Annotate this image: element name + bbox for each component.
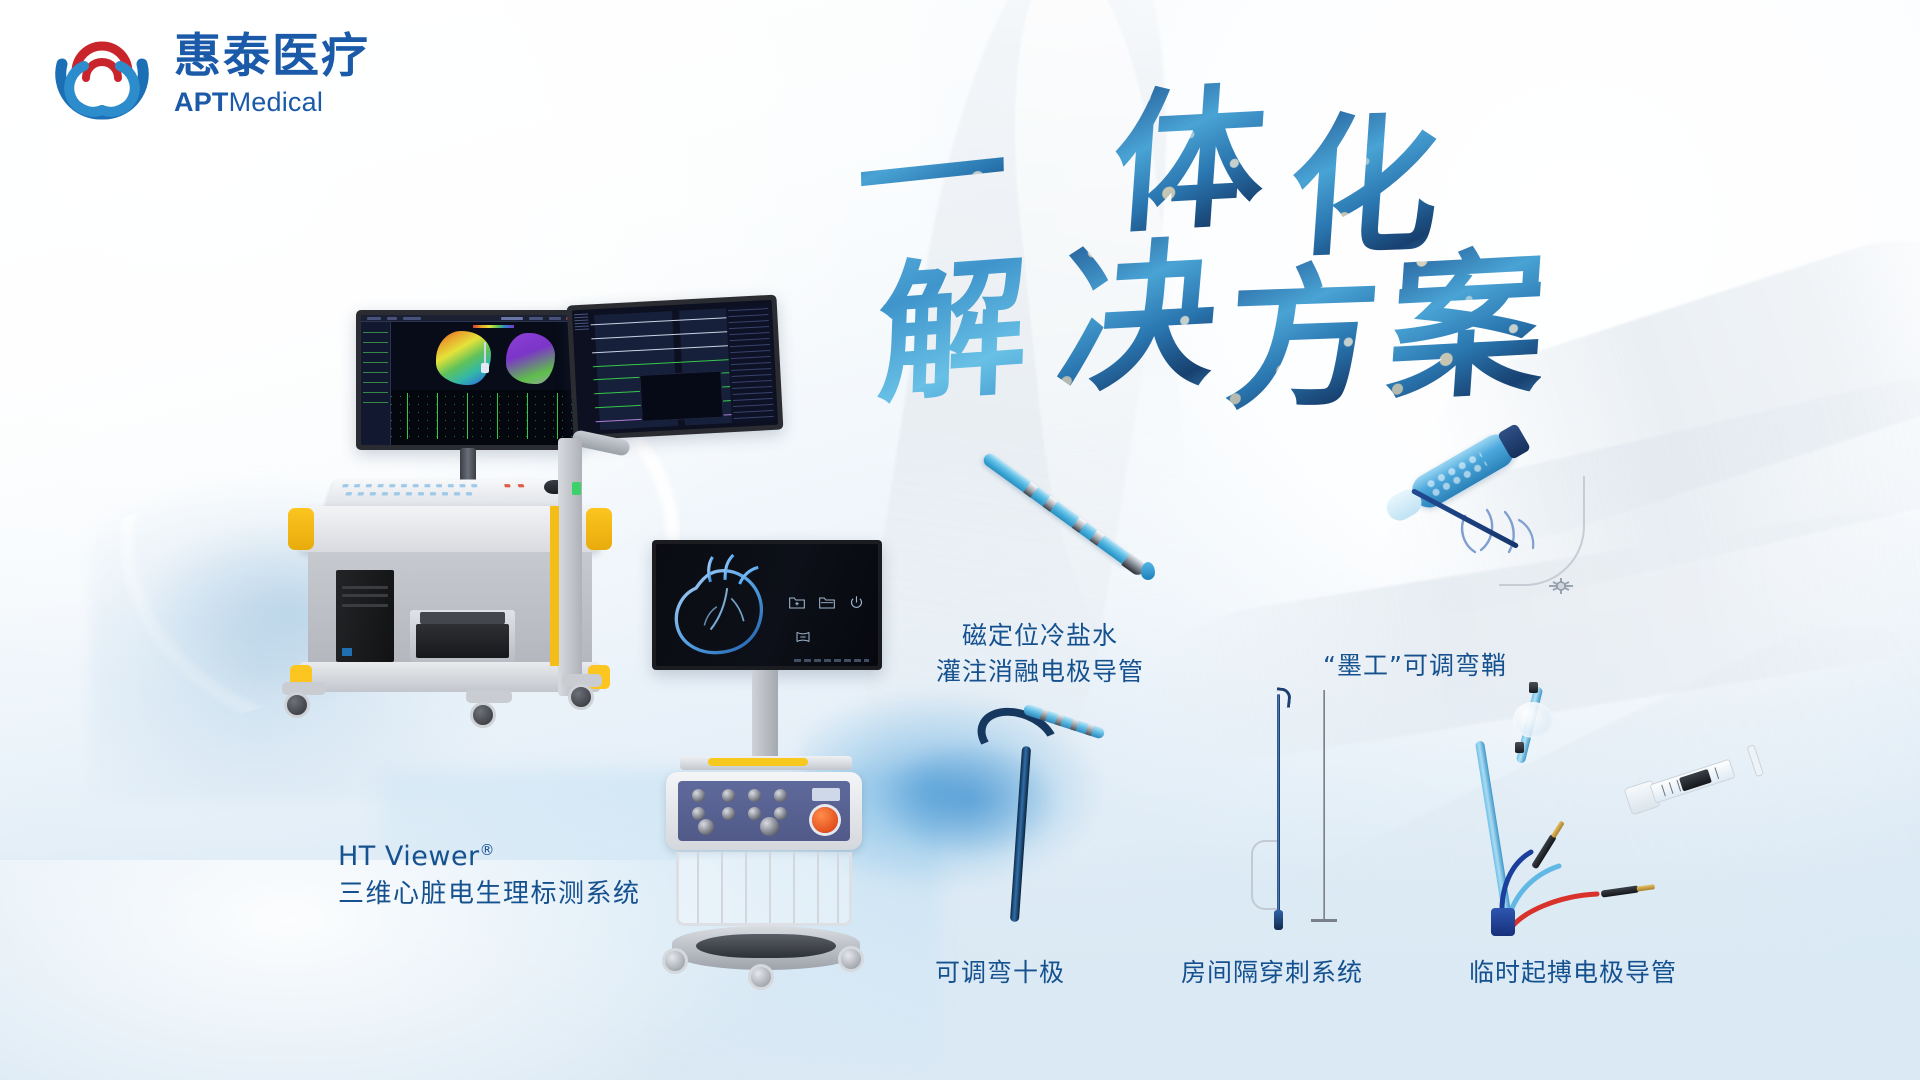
label-irrigated-line-1: 磁定位冷盐水	[936, 618, 1144, 654]
open-case-folder-icon[interactable]	[819, 595, 835, 609]
new-case-folder-icon[interactable]	[789, 595, 805, 609]
mapping-monitor-screen	[361, 315, 577, 445]
electrophysiology-monitor	[567, 295, 784, 441]
rf-connector-1[interactable]	[692, 789, 705, 802]
ep-measurement-table	[726, 304, 776, 423]
headline-char-7: 案	[1382, 195, 1554, 430]
rf-connector-7[interactable]	[774, 789, 787, 802]
report-printer	[410, 610, 515, 662]
rf-display-readout	[812, 788, 840, 801]
brand-logo-text: 惠泰医疗 APTMedical	[174, 33, 370, 116]
catheter-render	[484, 342, 486, 374]
headline-char-3: 化	[1282, 63, 1447, 286]
steerable-sheath-photo	[1395, 440, 1695, 630]
cart-base-shelf	[300, 662, 600, 692]
voltage-colorbar	[473, 325, 514, 328]
transseptal-side-arm	[1251, 840, 1277, 910]
rf-ablation-generator	[666, 772, 862, 850]
pacing-electrode-proximal	[1515, 742, 1524, 753]
cart-accessory-tray	[680, 756, 852, 770]
cart-round-base	[672, 926, 860, 970]
heart-display-footer-text	[794, 659, 869, 662]
poster-canvas: 惠泰医疗 APTMedical 一 体 化 解 决 方 案	[0, 0, 1920, 1080]
intracardiac-ecg-panel	[391, 390, 577, 445]
steerable-decapolar-catheter-photo	[960, 700, 1150, 930]
label-irrigated-catheter: 磁定位冷盐水 灌注消融电极导管	[936, 618, 1144, 689]
temporary-pacing-catheter-photo	[1485, 680, 1815, 930]
label-irrigated-line-2: 灌注消融电极导管	[936, 654, 1144, 690]
cart-caster-1	[284, 692, 310, 718]
decapolar-shaft	[1010, 746, 1031, 922]
transseptal-puncture-system-photo	[1235, 690, 1355, 940]
headline-char-2: 体	[1106, 33, 1273, 262]
ht-viewer-text: HT Viewer	[338, 841, 480, 872]
pacing-catheter-balloon	[1513, 702, 1553, 738]
pacing-catheter-hub	[1491, 908, 1515, 936]
power-icon[interactable]	[849, 595, 865, 610]
registered-trademark-symbol: ®	[480, 841, 495, 859]
display-stand-column	[752, 670, 778, 758]
heart-display-screen	[656, 544, 878, 666]
cart-caster-3	[568, 684, 594, 710]
printer-paper-tray	[420, 612, 505, 624]
pc-badge	[342, 648, 352, 656]
label-transseptal: 房间隔穿刺系统	[1181, 955, 1363, 991]
transseptal-needle	[1277, 694, 1280, 916]
ep-keyboard[interactable]	[324, 480, 560, 508]
rf-cart-caster-2	[838, 946, 864, 972]
brand-name-en-light: Medical	[229, 87, 323, 117]
sheath-handle-cap	[1497, 423, 1531, 460]
rf-connector-2[interactable]	[692, 807, 705, 820]
headline-char-1: 一	[855, 68, 1009, 264]
rf-connector-6[interactable]	[748, 807, 761, 820]
workstation-pc	[336, 570, 394, 662]
segmentation-icon[interactable]	[795, 630, 811, 649]
ablation-catheter-body	[981, 451, 1134, 567]
headline-char-4: 解	[874, 204, 1031, 433]
rf-start-button[interactable]	[812, 807, 838, 833]
headline-char-5: 决	[1050, 185, 1228, 424]
printer-body	[416, 624, 509, 658]
rf-generator-front-panel	[678, 781, 850, 841]
cart-power-led	[572, 482, 581, 495]
brand-name-en-bold: APT	[174, 87, 229, 117]
rf-output-connector[interactable]	[760, 817, 779, 836]
rf-connector-4[interactable]	[722, 807, 735, 820]
cart-vertical-post	[558, 438, 582, 696]
label-pacing-catheter: 临时起搏电极导管	[1469, 955, 1677, 991]
rf-ground-connector[interactable]	[698, 819, 714, 835]
cart-caster-2	[470, 702, 496, 728]
rf-cart-caster-3	[748, 964, 774, 990]
label-ht-viewer-name-cn: 三维心脏电生理标测系统	[338, 876, 641, 913]
label-steerable-sheath: “墨工”可调弯鞘	[1323, 648, 1507, 684]
cart-storage-basket	[676, 852, 852, 926]
rf-cart-caster-1	[662, 948, 688, 974]
irrigated-ablation-catheter-photo	[985, 450, 1175, 590]
headline-calligraphy: 一 体 化 解 决 方 案	[960, 40, 1680, 370]
rf-connector-5[interactable]	[748, 789, 761, 802]
cart-post-accent	[550, 506, 559, 666]
heart-display-menu[interactable]	[789, 595, 865, 610]
transseptal-guidewire	[1323, 690, 1325, 922]
label-ht-viewer-name-en: HT Viewer®	[338, 838, 641, 876]
hemostasis-valve	[1547, 576, 1575, 596]
brand-logo: 惠泰医疗 APTMedical	[48, 22, 370, 126]
ep-detail-subwindow	[639, 371, 723, 422]
anatomical-map-right	[506, 333, 554, 384]
ep-channel-labels	[574, 313, 589, 332]
apt-medical-logo-icon	[48, 22, 156, 126]
mapping-monitor	[356, 310, 582, 450]
syringe-flange	[1747, 744, 1764, 777]
electrophysiology-monitor-screen	[572, 300, 778, 435]
caster-arm-2	[466, 690, 512, 703]
three-d-map-view	[391, 322, 577, 397]
rf-connector-3[interactable]	[722, 789, 735, 802]
brand-name-cn: 惠泰医疗	[174, 33, 370, 80]
rf-generator-cart	[652, 540, 912, 1040]
heart-display-monitor	[652, 540, 882, 670]
mapping-channel-list	[361, 322, 391, 445]
decapolar-curve	[968, 696, 1068, 781]
label-ht-viewer: HT Viewer® 三维心脏电生理标测系统	[338, 838, 641, 913]
sheath-handle-grip	[1425, 450, 1489, 498]
inflation-syringe	[1623, 747, 1757, 820]
headline-char-6: 方	[1220, 213, 1387, 439]
label-decapolar: 可调弯十极	[935, 955, 1065, 991]
mapping-toolbar	[361, 315, 577, 322]
heart-illustration	[665, 551, 789, 658]
rf-connector-8[interactable]	[774, 807, 787, 820]
brand-name-en: APTMedical	[174, 89, 370, 116]
saline-droplet	[1141, 562, 1155, 580]
pacing-electrode-distal	[1529, 682, 1538, 693]
